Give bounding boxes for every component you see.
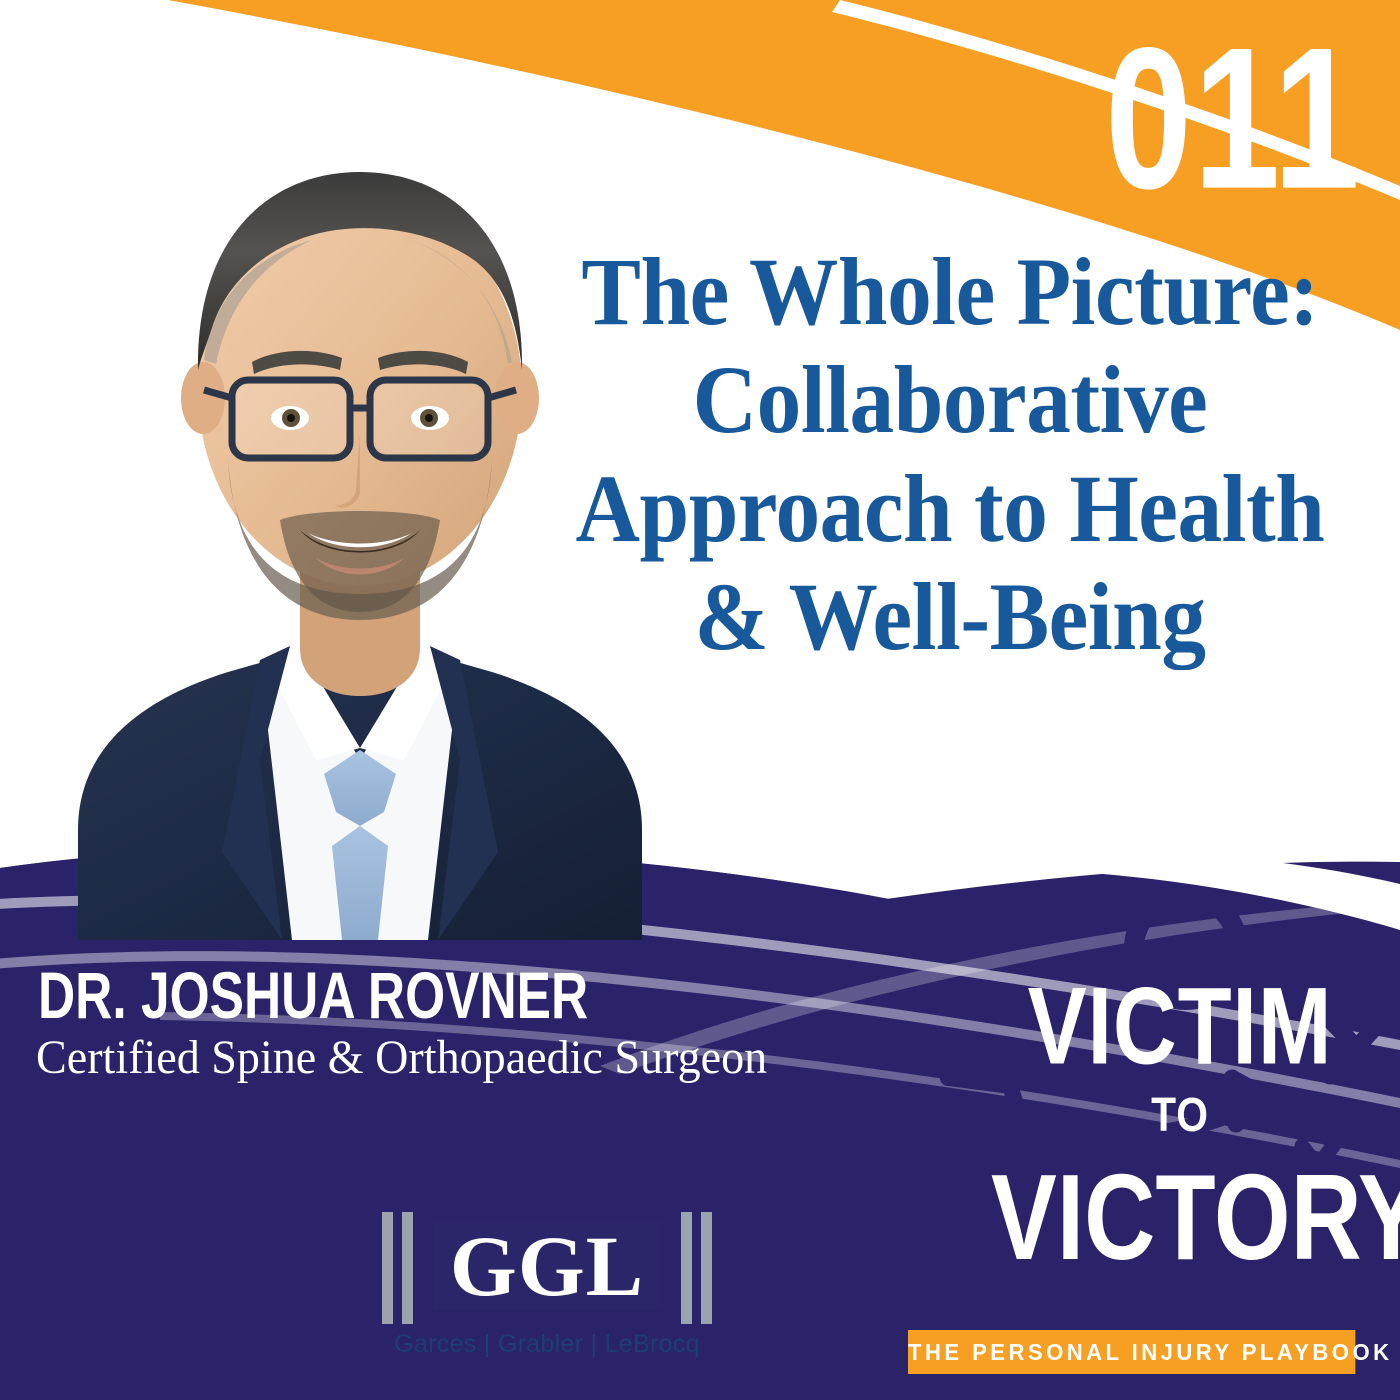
logo-bar <box>681 1212 692 1324</box>
brand-line-victim: VICTIM <box>1010 972 1350 1081</box>
logo-bar <box>701 1212 712 1324</box>
logo-bar <box>402 1212 413 1324</box>
guest-name: DR. JOSHUA ROVNER <box>38 962 588 1028</box>
logo-left-bars <box>382 1212 413 1324</box>
episode-title-line-4: & Well-Being <box>532 563 1369 671</box>
episode-title-line-1: The Whole Picture: <box>532 238 1369 346</box>
logo-monogram: GGL <box>434 1210 660 1322</box>
episode-number: 011 <box>1106 18 1362 219</box>
episode-title-line-3: Approach to Health <box>532 455 1369 563</box>
guest-role: Certified Spine & Orthopaedic Surgeon <box>36 1032 767 1085</box>
episode-title-line-2: Collaborative <box>532 346 1369 454</box>
podcast-cover-art: 011 The Whole Picture: Collaborative App… <box>0 0 1400 1400</box>
logo-right-bars <box>681 1212 712 1324</box>
brand-line-to: TO <box>1010 1092 1350 1140</box>
brand-tagline: THE PERSONAL INJURY PLAYBOOK <box>908 1330 1355 1374</box>
ggl-logo[interactable]: GGL Garces | Grabler | LeBrocq <box>382 1206 712 1376</box>
logo-firm-name: Garces | Grabler | LeBrocq <box>382 1330 712 1359</box>
episode-title: The Whole Picture: Collaborative Approac… <box>532 238 1369 672</box>
brand-line-victory: VICTORY <box>991 1156 1365 1278</box>
logo-bar <box>382 1212 393 1324</box>
